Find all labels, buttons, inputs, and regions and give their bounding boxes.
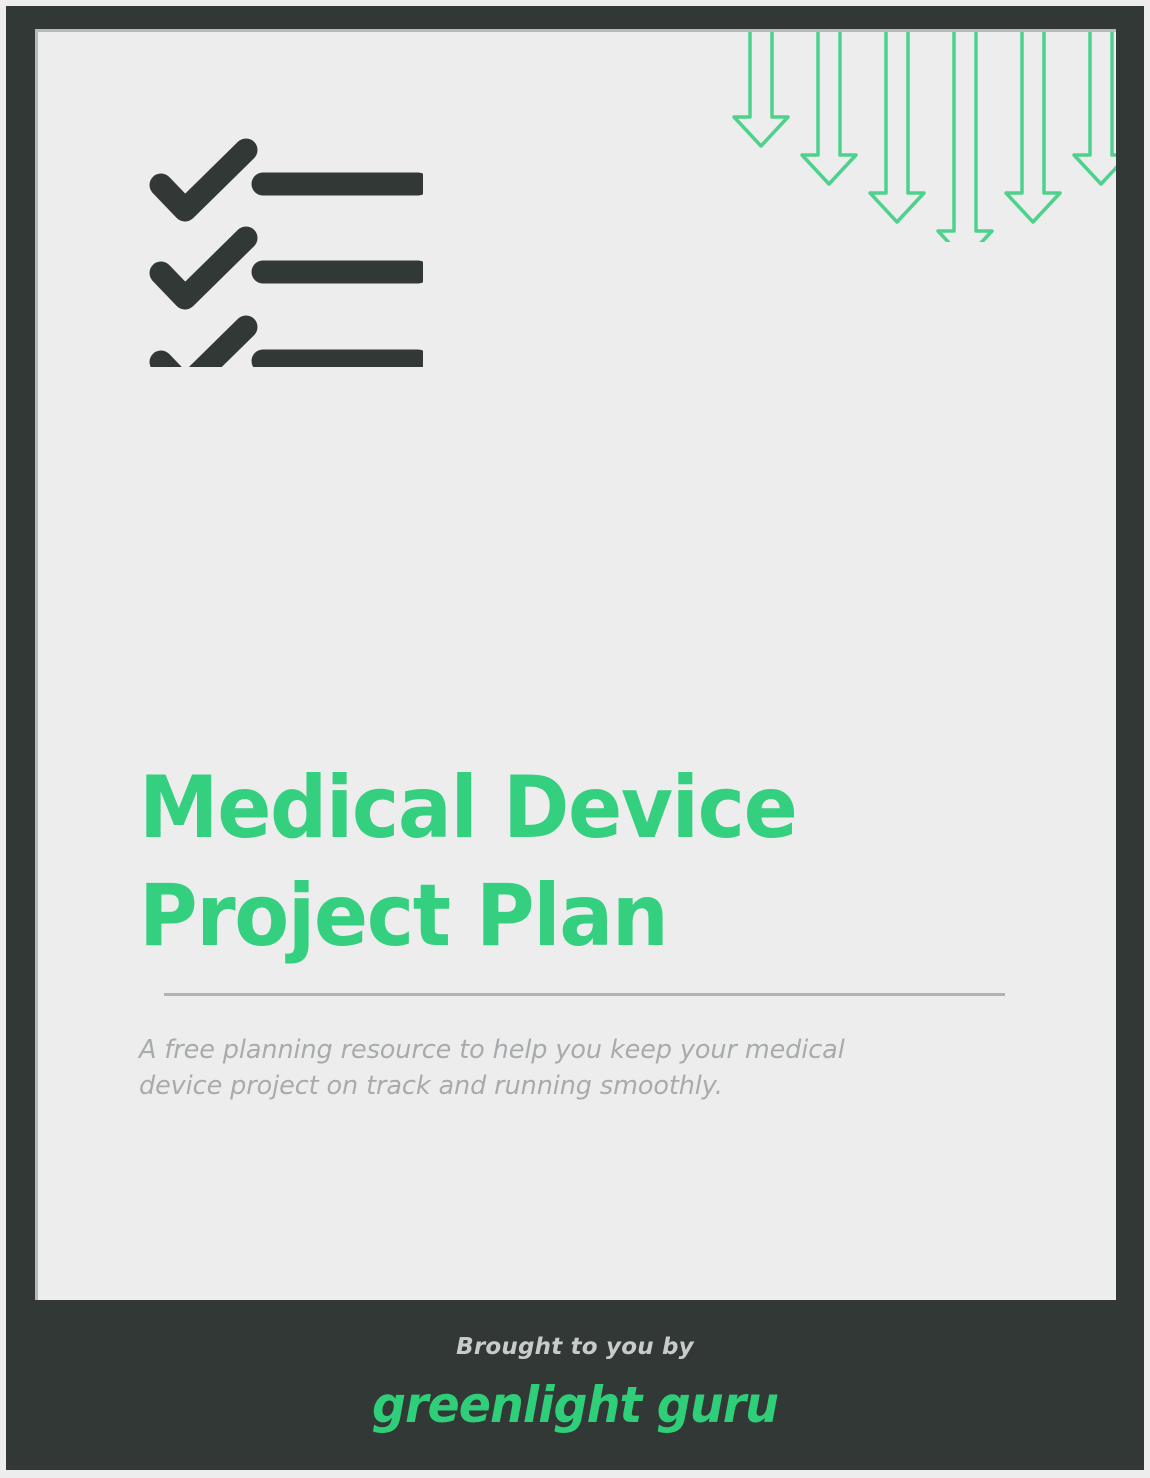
down-arrow-3 [870,29,924,222]
page-title: Medical DeviceProject Plan [139,754,1039,970]
document-page-frame: Medical DeviceProject Plan A free planni… [6,6,1144,1470]
down-arrow-2 [802,29,856,184]
cover-content-area: Medical DeviceProject Plan A free planni… [35,29,1116,1300]
down-arrow-4 [938,29,992,242]
down-arrow-5 [1006,29,1060,222]
brand-logo-wordmark: greenlight guru [34,1360,1115,1434]
down-arrows-motif [693,29,1116,242]
doc-title-line-2: Project Plan [139,862,976,970]
check-mark-icon-3 [161,327,246,367]
doc-subtitle: A free planning resource to help you kee… [139,1032,929,1104]
doc-title: Medical DeviceProject Plan [139,754,976,970]
doc-title-line-1: Medical Device [139,758,796,858]
title-divider [164,993,1005,996]
footer-band: Brought to you by greenlight guru [6,1300,1144,1470]
check-mark-icon-2 [161,238,246,298]
down-arrow-1 [734,29,788,146]
checklist-icon [123,117,423,367]
down-arrow-6 [1074,29,1116,184]
footer-kicker: Brought to you by [6,1300,1144,1360]
check-mark-icon-1 [161,150,246,210]
